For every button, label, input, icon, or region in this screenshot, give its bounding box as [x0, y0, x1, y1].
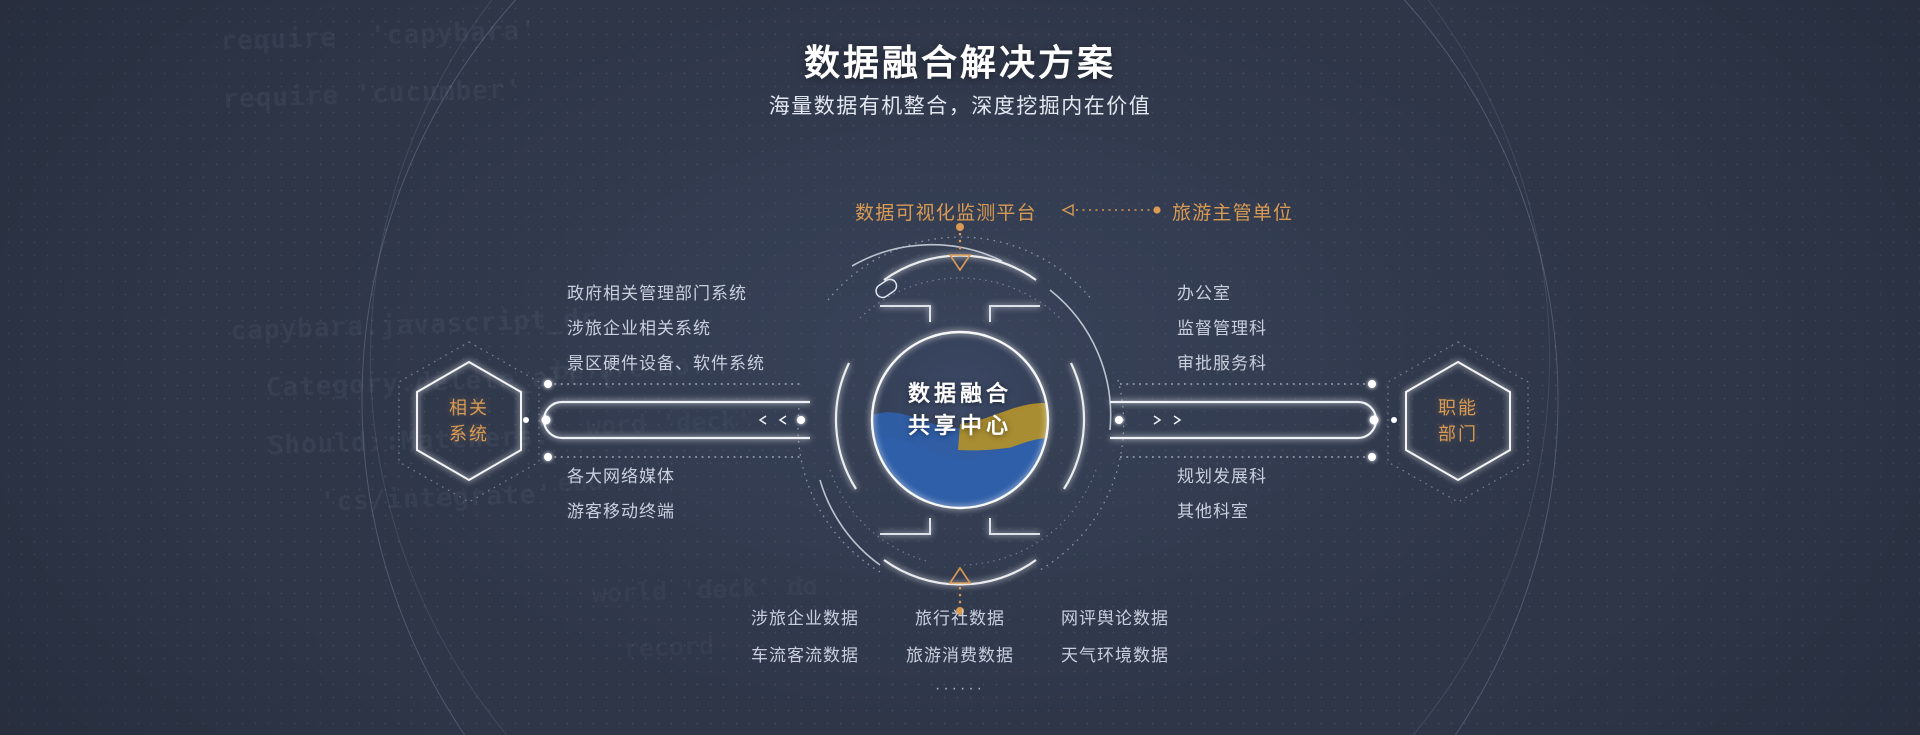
list-item: 涉旅企业数据	[730, 600, 880, 637]
list-item: 旅行社数据	[885, 600, 1035, 637]
list-item: 其他科室	[1177, 494, 1267, 529]
list-item: 天气环境数据	[1040, 637, 1190, 674]
center-hub-line1: 数据融合	[874, 378, 1046, 410]
ring-capsule-marker	[874, 277, 900, 300]
left-sources-bottom-list: 各大网络媒体 游客移动终端	[567, 459, 675, 529]
list-item: 监督管理科	[1177, 311, 1267, 346]
right-departments-bottom-list: 规划发展科 其他科室	[1177, 459, 1267, 529]
list-item: 网评舆论数据	[1040, 600, 1190, 637]
left-sources-top-list: 政府相关管理部门系统 涉旅企业相关系统 景区硬件设备、软件系统	[567, 276, 765, 381]
hexagon-left-label: 相关 系统	[415, 362, 523, 480]
hexagon-left-line2: 系统	[449, 421, 489, 447]
hexagon-left-related-systems[interactable]: 相关 系统	[415, 362, 523, 480]
connector-right-bus	[1110, 380, 1397, 461]
list-item: 旅游消费数据	[885, 637, 1035, 674]
hexagon-right-functional-departments[interactable]: 职能 部门	[1404, 362, 1512, 480]
hexagon-right-line1: 职能	[1438, 395, 1478, 421]
list-item: 办公室	[1177, 276, 1267, 311]
list-item: 规划发展科	[1177, 459, 1267, 494]
bottom-data-sources: 涉旅企业数据 旅行社数据 网评舆论数据 车流客流数据 旅游消费数据 天气环境数据…	[730, 600, 1190, 698]
center-hub-label: 数据融合 共享中心	[874, 378, 1046, 442]
list-item: 车流客流数据	[730, 637, 880, 674]
list-item: 游客移动终端	[567, 494, 675, 529]
bottom-data-row-2: 车流客流数据 旅游消费数据 天气环境数据	[730, 637, 1190, 674]
list-item: 景区硬件设备、软件系统	[567, 346, 765, 381]
hexagon-right-label: 职能 部门	[1404, 362, 1512, 480]
connector-platform-authority	[1063, 205, 1161, 215]
list-item: 各大网络媒体	[567, 459, 675, 494]
connector-left-bus	[523, 380, 810, 461]
right-departments-top-list: 办公室 监督管理科 审批服务科	[1177, 276, 1267, 381]
bottom-data-row-1: 涉旅企业数据 旅行社数据 网评舆论数据	[730, 600, 1190, 637]
hexagon-right-line2: 部门	[1438, 421, 1478, 447]
list-item: 政府相关管理部门系统	[567, 276, 765, 311]
bottom-data-ellipsis: ······	[730, 680, 1190, 698]
center-hub-line2: 共享中心	[874, 410, 1046, 442]
list-item: 审批服务科	[1177, 346, 1267, 381]
hexagon-left-line1: 相关	[449, 395, 489, 421]
label-visualization-platform[interactable]: 数据可视化监测平台	[855, 198, 1037, 225]
page-subtitle: 海量数据有机整合，深度挖掘内在价值	[0, 90, 1920, 120]
page-title: 数据融合解决方案	[0, 34, 1920, 86]
list-item: 涉旅企业相关系统	[567, 311, 765, 346]
label-tourism-authority[interactable]: 旅游主管单位	[1172, 198, 1293, 225]
